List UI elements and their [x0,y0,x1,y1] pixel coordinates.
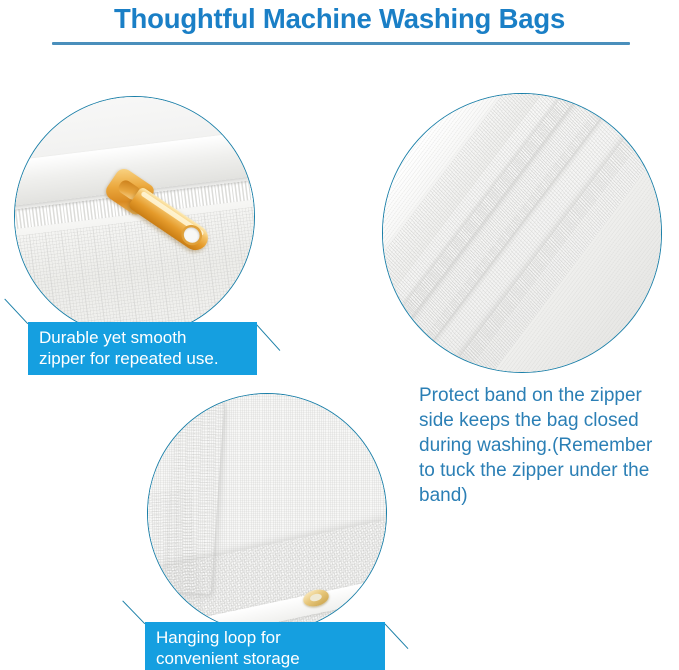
caption-protect-band: Protect band on the zipper side keeps th… [419,383,671,508]
caption-hanging-loop: Hanging loop for convenient storage [145,622,385,670]
leader-line-loop-right [384,623,408,649]
zipper-photo [15,97,254,336]
page-title: Thoughtful Machine Washing Bags [0,2,679,36]
callout-image-hanging-loop [147,393,387,633]
mesh-texture-overlay [383,94,661,372]
title-divider [52,42,630,45]
callout-image-zipper [14,96,255,337]
protect-band-photo [383,94,661,372]
callout-image-protect-band [382,93,662,373]
leader-line-zipper-right [255,323,280,351]
hanging-loop-photo [148,394,386,632]
leader-line-loop-left [122,600,145,624]
product-infographic: Thoughtful Machine Washing Bags Durable … [0,0,679,670]
caption-zipper: Durable yet smooth zipper for repeated u… [28,322,257,375]
